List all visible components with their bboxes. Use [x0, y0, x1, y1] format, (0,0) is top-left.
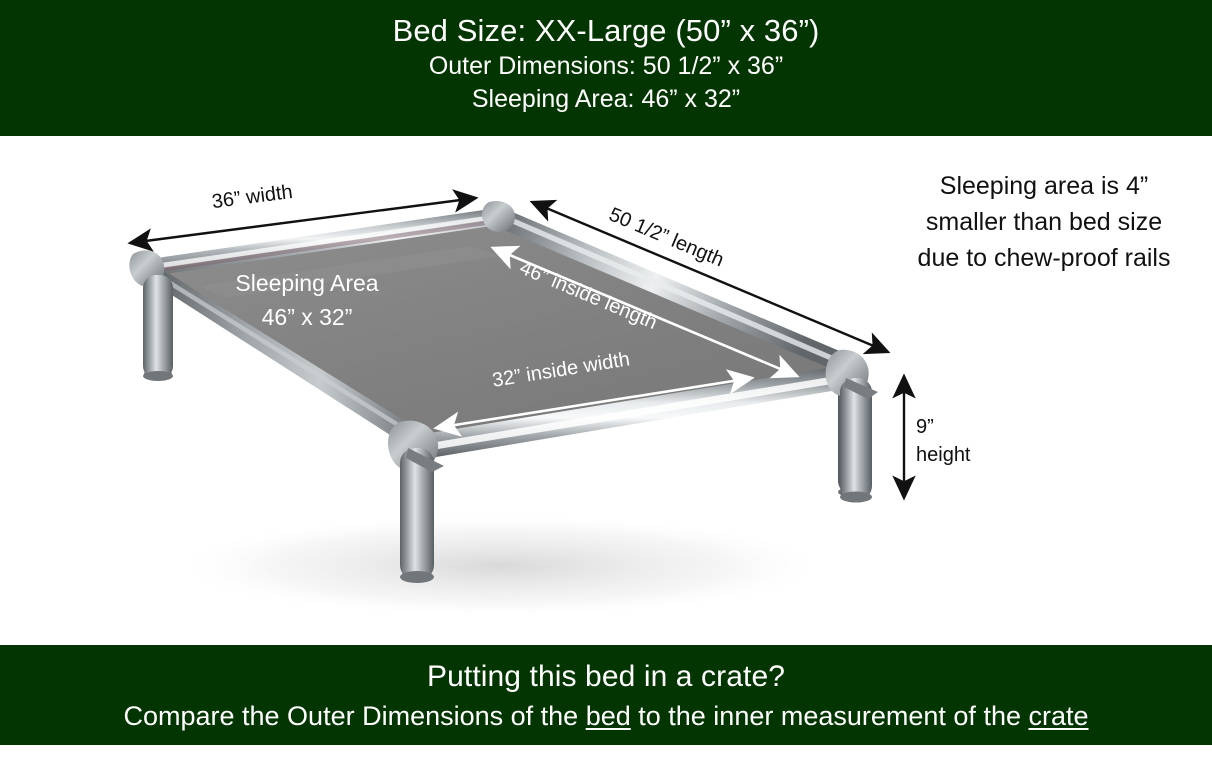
crate-question: Putting this bed in a crate?	[0, 657, 1212, 697]
sleeping-area-text: Sleeping Area: 46” x 32”	[0, 83, 1212, 116]
crate-advice: Compare the Outer Dimensions of the bed …	[0, 697, 1212, 735]
product-dimension-infographic: Bed Size: XX-Large (50” x 36”) Outer Dim…	[0, 0, 1212, 757]
crate-advice-part-1: Compare the Outer Dimensions of the	[123, 701, 585, 731]
top-banner: Bed Size: XX-Large (50” x 36”) Outer Dim…	[0, 0, 1212, 136]
bed-leg-left	[143, 275, 173, 381]
dimension-height-9-value: 9”	[916, 416, 934, 438]
dimension-height-9-word: height	[916, 444, 971, 466]
sleeping-area-callout-line-1: Sleeping Area	[235, 270, 378, 296]
dimension-width-36-label: 36” width	[211, 181, 294, 213]
dog-bed-illustration: 36” width 50 1/2” length 9” height 46” i…	[0, 136, 1212, 645]
bottom-banner: Putting this bed in a crate? Compare the…	[0, 645, 1212, 745]
crate-advice-word-bed: bed	[586, 701, 631, 731]
crate-advice-word-crate: crate	[1028, 701, 1088, 731]
bed-leg-front-right	[840, 378, 878, 503]
outer-dimensions-text: Outer Dimensions: 50 1/2” x 36”	[0, 50, 1212, 83]
crate-advice-part-2: to the inner measurement of the	[631, 701, 1029, 731]
floor-shadow	[170, 514, 830, 618]
sleeping-area-callout-line-2: 46” x 32”	[262, 304, 353, 330]
bed-size-title: Bed Size: XX-Large (50” x 36”)	[0, 11, 1212, 50]
dimension-height-9: 9” height	[904, 376, 971, 498]
